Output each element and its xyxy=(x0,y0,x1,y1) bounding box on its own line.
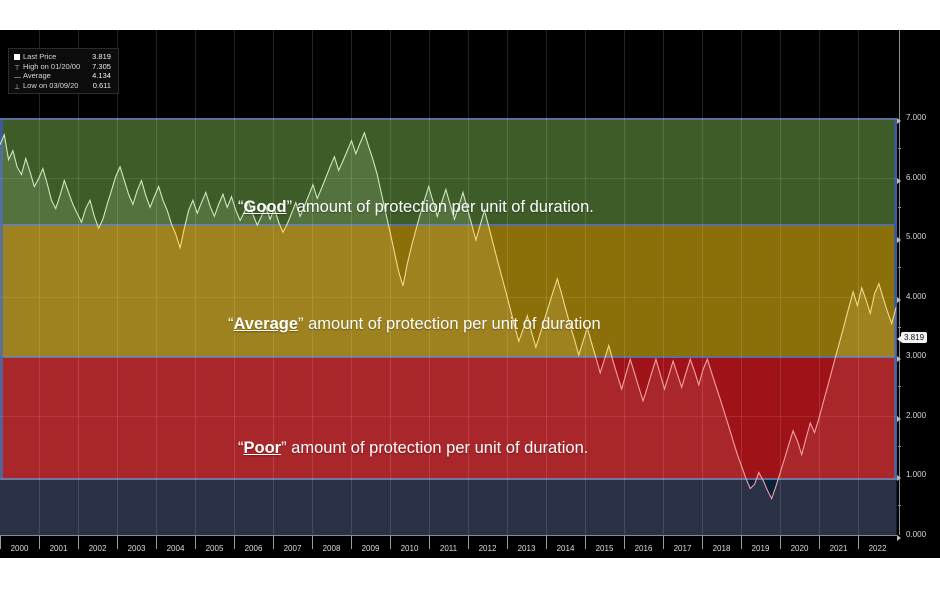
x-axis-label-2006: 2006 xyxy=(234,544,273,553)
y-axis-label-2.000: 2.000 xyxy=(906,411,926,420)
y-axis-minor-tick xyxy=(898,207,901,208)
annotation-average-keyword: Average xyxy=(234,315,299,333)
y-axis-minor-tick xyxy=(898,505,901,506)
bloomberg-chart-terminal: “Good” amount of protection per unit of … xyxy=(0,30,940,558)
square-marker-icon xyxy=(14,54,20,60)
x-axis-label-2002: 2002 xyxy=(78,544,117,553)
y-axis-label-5.000: 5.000 xyxy=(906,232,926,241)
legend-text: Low on 03/09/20 xyxy=(23,81,78,90)
legend-label-last-price: Last Price xyxy=(12,52,82,62)
legend-text: High on 01/20/00 xyxy=(23,62,80,71)
y-axis-minor-tick xyxy=(898,148,901,149)
legend-value-average: 4.134 xyxy=(82,71,113,81)
x-axis-label-2012: 2012 xyxy=(468,544,507,553)
y-axis-label-7.000: 7.000 xyxy=(906,113,926,122)
y-axis-minor-tick xyxy=(898,446,901,447)
x-axis-label-2017: 2017 xyxy=(663,544,702,553)
y-axis-label-1.000: 1.000 xyxy=(906,470,926,479)
x-axis-label-2005: 2005 xyxy=(195,544,234,553)
annotation-good-suffix: ” amount of protection per unit of durat… xyxy=(287,198,594,216)
x-axis-label-2015: 2015 xyxy=(585,544,624,553)
x-axis-label-2011: 2011 xyxy=(429,544,468,553)
legend-row: —Average 4.134 xyxy=(12,71,113,81)
legend-text: Average xyxy=(23,71,51,80)
y-axis-minor-tick xyxy=(898,327,901,328)
legend-label-high: ⊤High on 01/20/00 xyxy=(12,62,82,72)
x-axis-label-2020: 2020 xyxy=(780,544,819,553)
legend-label-average: —Average xyxy=(12,71,82,81)
x-axis-label-2016: 2016 xyxy=(624,544,663,553)
annotation-average: “Average” amount of protection per unit … xyxy=(228,315,601,334)
screenshot-root: “Good” amount of protection per unit of … xyxy=(0,0,940,599)
x-axis: 2000200120022003200420052006200720082009… xyxy=(0,535,897,558)
legend-label-low: ⊥Low on 03/09/20 xyxy=(12,81,82,91)
low-marker-icon: ⊥ xyxy=(14,83,20,89)
y-axis: 0.0001.0002.0003.0004.0005.0006.0007.000 xyxy=(897,30,940,535)
y-axis-label-3.000: 3.000 xyxy=(906,351,926,360)
legend-row: Last Price 3.819 xyxy=(12,52,113,62)
legend-row: ⊥Low on 03/09/20 0.611 xyxy=(12,81,113,91)
legend-value-high: 7.305 xyxy=(82,62,113,72)
x-axis-label-2001: 2001 xyxy=(39,544,78,553)
chart-legend: Last Price 3.819 ⊤High on 01/20/00 7.305… xyxy=(8,48,119,94)
x-axis-label-2013: 2013 xyxy=(507,544,546,553)
x-axis-label-2022: 2022 xyxy=(858,544,897,553)
chart-plot-area: “Good” amount of protection per unit of … xyxy=(0,30,897,535)
x-axis-label-2003: 2003 xyxy=(117,544,156,553)
last-price-marker: 3.819 xyxy=(901,332,927,343)
y-axis-minor-tick xyxy=(898,386,901,387)
legend-value-low: 0.611 xyxy=(82,81,113,91)
annotation-poor: “Poor” amount of protection per unit of … xyxy=(238,439,588,458)
x-axis-label-2021: 2021 xyxy=(819,544,858,553)
y-axis-label-4.000: 4.000 xyxy=(906,292,926,301)
annotation-poor-suffix: ” amount of protection per unit of durat… xyxy=(281,439,588,457)
y-axis-label-6.000: 6.000 xyxy=(906,173,926,182)
price-series xyxy=(0,30,897,535)
x-axis-label-2019: 2019 xyxy=(741,544,780,553)
legend-row: ⊤High on 01/20/00 7.305 xyxy=(12,62,113,72)
annotation-poor-keyword: Poor xyxy=(244,439,282,457)
x-axis-label-2018: 2018 xyxy=(702,544,741,553)
x-axis-label-2008: 2008 xyxy=(312,544,351,553)
x-axis-label-2009: 2009 xyxy=(351,544,390,553)
annotation-good-keyword: Good xyxy=(244,198,287,216)
x-axis-label-2014: 2014 xyxy=(546,544,585,553)
x-axis-label-2007: 2007 xyxy=(273,544,312,553)
x-axis-line xyxy=(0,535,897,536)
annotation-average-suffix: ” amount of protection per unit of durat… xyxy=(298,315,601,333)
average-marker-icon: — xyxy=(14,73,20,79)
annotation-good: “Good” amount of protection per unit of … xyxy=(238,198,594,217)
legend-text: Last Price xyxy=(23,52,56,61)
high-marker-icon: ⊤ xyxy=(14,64,20,70)
legend-value-last-price: 3.819 xyxy=(82,52,113,62)
x-axis-label-2000: 2000 xyxy=(0,544,39,553)
y-axis-minor-tick xyxy=(898,267,901,268)
x-axis-label-2004: 2004 xyxy=(156,544,195,553)
y-axis-label-0.000: 0.000 xyxy=(906,530,926,539)
legend-table: Last Price 3.819 ⊤High on 01/20/00 7.305… xyxy=(12,52,113,90)
x-axis-label-2010: 2010 xyxy=(390,544,429,553)
